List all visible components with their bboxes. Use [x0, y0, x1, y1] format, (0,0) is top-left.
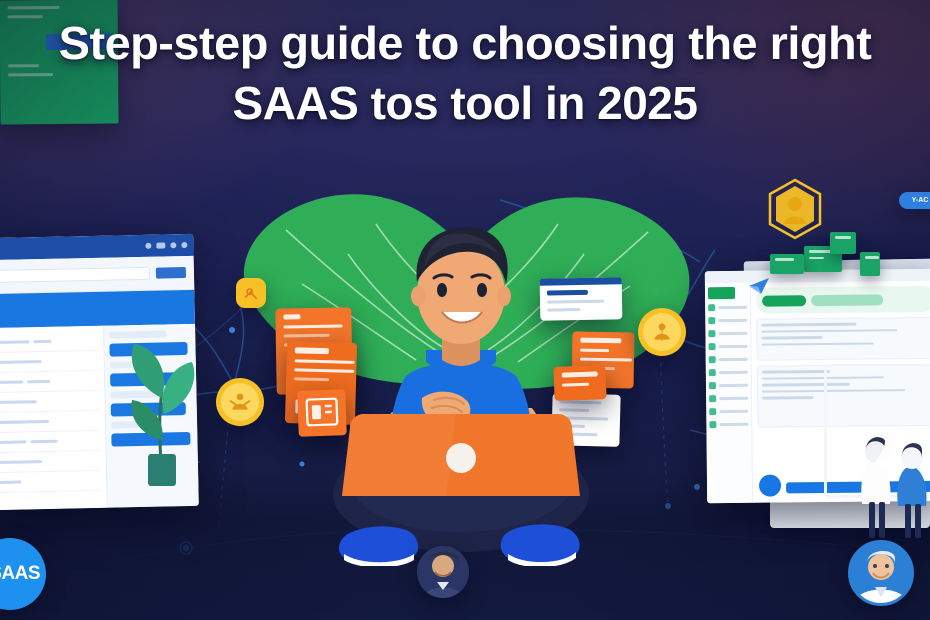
sidebar-item[interactable] — [709, 395, 748, 402]
chart-icon — [708, 317, 715, 324]
left-panel-list — [0, 326, 107, 510]
user-icon — [709, 421, 716, 428]
left-panel-blue-band — [0, 290, 195, 328]
sidebar-item[interactable] — [709, 408, 748, 415]
saas-badge-label: SAAS — [0, 563, 40, 585]
calendar-icon — [709, 369, 716, 376]
content-card[interactable] — [756, 317, 930, 361]
hero-bar — [811, 294, 883, 306]
box-icon — [709, 395, 716, 402]
sidebar-item[interactable] — [708, 304, 747, 311]
network-coin-icon — [216, 378, 264, 426]
standing-figures — [856, 418, 930, 538]
link-icon[interactable] — [170, 242, 176, 248]
user-avatar-center[interactable] — [417, 546, 469, 598]
gear-icon — [709, 408, 716, 415]
top-right-pill-button[interactable]: Y-AC — [899, 192, 930, 209]
page-title: Step-step guide to choosing the right SA… — [0, 16, 930, 130]
table-row[interactable] — [0, 391, 99, 413]
title-line-1: Step-step guide to choosing the right — [3, 16, 927, 70]
table-row[interactable] — [0, 411, 100, 433]
network-coin-icon — [638, 308, 686, 356]
tools-badge-icon — [236, 278, 266, 308]
user-avatar-right[interactable] — [848, 540, 914, 606]
table-row[interactable] — [0, 371, 99, 393]
table-row[interactable] — [0, 331, 98, 353]
sidebar-item[interactable] — [709, 382, 748, 389]
chat-fab-icon[interactable] — [759, 474, 781, 496]
table-row[interactable] — [0, 431, 100, 453]
table-row[interactable] — [0, 451, 101, 473]
hero-banner — [756, 286, 930, 314]
left-panel-searchbar — [0, 256, 194, 294]
right-panel-sidebar — [705, 283, 753, 503]
cart-icon[interactable] — [156, 242, 165, 248]
green-chip — [830, 232, 856, 254]
seated-person-with-laptop — [296, 176, 626, 566]
undo-icon[interactable] — [145, 243, 151, 249]
title-line-2: SAAS tos tool in 2025 — [12, 76, 918, 130]
hex-award-badge — [764, 178, 826, 240]
list-icon — [709, 343, 716, 350]
clock-icon — [709, 356, 716, 363]
table-row[interactable] — [0, 471, 101, 493]
sidebar-item[interactable] — [709, 343, 748, 350]
sidebar-item[interactable] — [709, 356, 748, 363]
green-chip — [770, 254, 804, 274]
hero-illustration: Y-AC — [0, 0, 930, 620]
folder-icon — [708, 330, 715, 337]
pill-button-label: Y-AC — [912, 197, 929, 204]
sidebar-item[interactable] — [708, 330, 747, 337]
primary-action-button[interactable] — [156, 267, 186, 279]
sidebar-item[interactable] — [709, 369, 748, 376]
home-icon — [708, 304, 715, 311]
search-input[interactable] — [0, 267, 150, 283]
sidebar-item[interactable] — [708, 317, 747, 324]
small-plant-icon — [118, 336, 204, 486]
table-row[interactable] — [0, 351, 98, 373]
green-chip — [860, 252, 880, 276]
menu-icon[interactable] — [181, 242, 187, 248]
sidebar-item[interactable] — [709, 421, 748, 428]
paper-plane-icon — [748, 277, 770, 295]
doc-icon — [709, 382, 716, 389]
app-logo — [708, 287, 735, 299]
hero-badge — [762, 295, 806, 306]
